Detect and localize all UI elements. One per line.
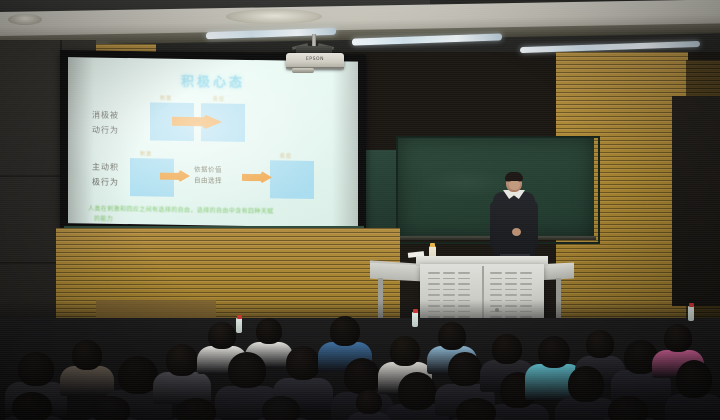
podium-panel-dash <box>490 283 502 285</box>
projector-brand-label: EPSON <box>286 57 344 62</box>
slide-row2-label-line1: 主动积 <box>92 162 119 173</box>
slide-row2-middle-line2: 自由选择 <box>194 176 222 185</box>
podium-panel-dash <box>443 283 455 285</box>
slide-row2-box1-label: 刺激 <box>140 150 152 157</box>
podium-panel-dash <box>443 272 455 274</box>
audience-member-head <box>568 366 604 402</box>
audience-member-head <box>330 316 360 346</box>
audience-member-head <box>664 324 692 352</box>
podium-panel-dash <box>520 294 532 296</box>
slide-row1-label-line1: 消极被 <box>92 110 119 121</box>
audience-member-head <box>228 352 266 388</box>
audience-member-head <box>92 396 130 420</box>
screen-edge-shade-right <box>332 61 358 227</box>
podium-panel-dash <box>520 278 532 280</box>
podium-panel-dash <box>490 294 502 296</box>
podium-panel-dash <box>490 289 502 291</box>
slide-bullet-line2: 的能力 <box>94 214 113 223</box>
podium-panel-dash <box>520 289 532 291</box>
lecture-hall-photo: 积极心态 消极被 动行为 刺激 反应 主动积 极行为 刺激 反应 <box>0 0 720 420</box>
podium-panel-dash <box>458 294 470 296</box>
audience-member-head <box>608 396 648 420</box>
audience-member-head <box>118 356 158 394</box>
slide-row1-label-line2: 动行为 <box>92 125 119 136</box>
podium-panel-dash <box>458 289 470 291</box>
audience-member-head <box>356 390 382 414</box>
podium-panel-dash <box>443 294 455 296</box>
presenter-torso <box>493 192 535 258</box>
slide-row1-box1-label: 刺激 <box>160 95 172 102</box>
slide-row2-arrow-icon-right <box>242 170 272 184</box>
podium-panel-dash <box>505 283 517 285</box>
audience-member-shoulders <box>60 366 114 396</box>
wall-recess-right <box>672 96 720 306</box>
podium-panel-dash <box>505 272 517 274</box>
slide-row2-box-response <box>270 160 314 199</box>
presenter-hand <box>512 228 521 236</box>
audience-member-head <box>586 330 614 358</box>
podium-panel-dash <box>428 283 440 285</box>
slide-row2-arrow-icon-left <box>160 169 190 183</box>
audience-member-head <box>286 346 320 380</box>
audience-member-head <box>176 398 216 420</box>
water-bottle-cap <box>237 315 242 319</box>
podium-panel-dash <box>428 272 440 274</box>
projector-lens-icon <box>292 68 314 73</box>
oval-ceiling-light-icon <box>226 9 322 24</box>
podium-panel-dash <box>443 289 455 291</box>
audience-member-head <box>538 336 570 368</box>
slide-bullet-line1: 人类在刺激和回应之间有选择的自由，选择的自由中含有四种天赋 <box>88 203 274 215</box>
podium-panel-dash <box>505 294 517 296</box>
audience-member-head <box>12 392 52 420</box>
slide-row2-box2-label: 反应 <box>280 152 292 159</box>
screen-edge-shade-left <box>68 57 94 223</box>
audience-member-head <box>676 360 712 398</box>
audience-member-head <box>18 352 54 386</box>
podium-panel-dash <box>428 289 440 291</box>
audience-water-bottle <box>688 306 694 321</box>
slide-row1-box2-label: 反应 <box>213 95 225 102</box>
slide-row2-label-line2: 极行为 <box>92 177 119 188</box>
podium-panel-dash <box>428 278 440 280</box>
slide-title: 积极心态 <box>68 69 358 93</box>
projection-screen-frame: 积极心态 消极被 动行为 刺激 反应 主动积 极行为 刺激 反应 <box>60 50 366 235</box>
podium-panel-dash <box>458 283 470 285</box>
presenter-face <box>509 180 520 190</box>
audience-member-head <box>390 336 420 366</box>
audience-member-head <box>262 396 300 420</box>
podium-panel-dash <box>505 278 517 280</box>
projection-screen: 积极心态 消极被 动行为 刺激 反应 主动积 极行为 刺激 反应 <box>68 57 358 228</box>
audience-member-head <box>72 340 102 370</box>
podium-panel-dash <box>428 294 440 296</box>
audience-water-bottle <box>236 318 242 333</box>
water-bottle-cap <box>689 303 694 307</box>
audience-member-head <box>256 318 282 344</box>
podium-panel-dash <box>520 272 532 274</box>
slide-row2-middle-line1: 依据价值 <box>194 165 222 174</box>
audience-member-head <box>456 398 496 420</box>
podium-panel-dash <box>520 283 532 285</box>
water-bottle-cap <box>413 309 418 313</box>
podium-panel-dash <box>490 278 502 280</box>
audience-member-head <box>492 334 522 364</box>
podium-panel-dash <box>505 289 517 291</box>
slide-row1-arrow-icon <box>172 113 222 131</box>
podium-panel-dash <box>490 272 502 274</box>
podium-panel-dash <box>443 278 455 280</box>
podium-bottle-cap <box>430 243 435 247</box>
audience-member-head <box>208 322 236 349</box>
podium-panel-dash <box>458 272 470 274</box>
presenter-hair <box>505 172 523 181</box>
audience-member-head <box>448 352 482 386</box>
podium-panel-dash <box>458 278 470 280</box>
audience-water-bottle <box>412 312 418 327</box>
audience-member-head <box>344 358 380 394</box>
audience-member-head <box>398 372 436 410</box>
audience-member-head <box>166 344 198 376</box>
recessed-can-light-icon <box>8 14 42 25</box>
audience-member-head <box>438 322 466 350</box>
